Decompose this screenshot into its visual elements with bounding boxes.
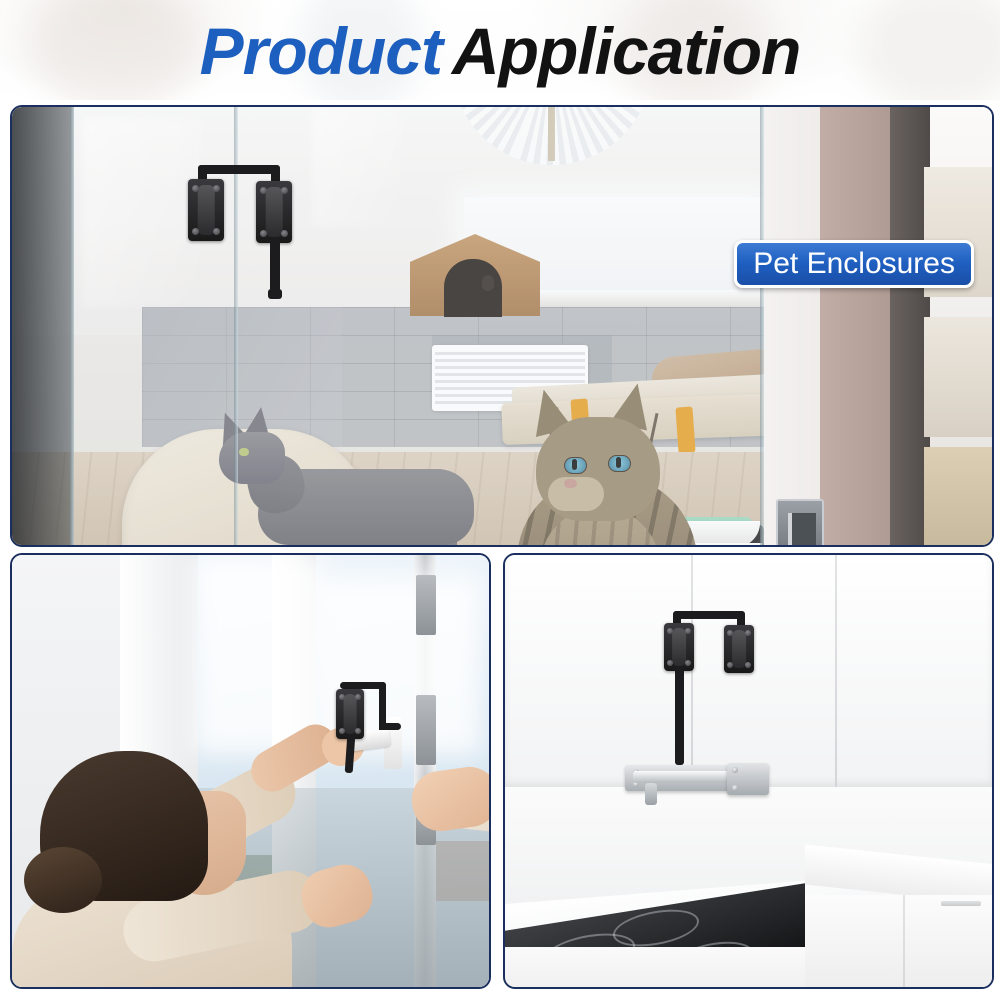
outdoor-building <box>436 841 491 901</box>
glass-door-edge <box>70 107 74 545</box>
lower-cabinets-left <box>505 947 805 989</box>
wall-panel <box>820 107 890 545</box>
lock-screw <box>745 662 751 668</box>
cabinet-door-seam <box>903 895 905 989</box>
lock-rod-tip <box>268 289 282 299</box>
page-title-word-product: Product <box>200 14 442 88</box>
lock-screw <box>727 662 733 668</box>
cabinet-handle[interactable] <box>941 901 981 906</box>
lock-screw <box>213 228 220 235</box>
barrel-bolt-bar <box>633 771 737 783</box>
page-title: ProductApplication <box>0 14 1000 88</box>
background-cabinet <box>924 447 992 547</box>
page-title-word-application: Application <box>452 14 800 88</box>
bolt-screw <box>732 767 738 773</box>
lock-sliding-rod <box>675 667 684 765</box>
lock-mounting-plate-right <box>724 625 754 673</box>
glass-reflection <box>82 117 202 307</box>
lock-screw <box>192 185 199 192</box>
lock-screw <box>355 728 361 734</box>
lock-screw <box>685 660 691 666</box>
lower-cabinets-right <box>805 895 992 989</box>
panel-pet-enclosures[interactable]: Pet Enclosures <box>10 105 994 547</box>
lock-screw <box>281 230 288 237</box>
pet-enclosure-photo <box>12 107 992 545</box>
lock-mounting-plate-left <box>664 623 694 671</box>
windows-photo <box>12 555 489 987</box>
background-cabinet <box>924 317 992 437</box>
barrel-bolt-keeper <box>727 763 769 795</box>
window-mechanism <box>416 695 436 765</box>
glass-door-hinge-icon <box>776 499 824 547</box>
lock-screw <box>355 694 361 700</box>
lock-screw <box>745 630 751 636</box>
lock-screw <box>260 230 267 237</box>
woman-hair-bun <box>24 847 102 913</box>
lock-screw <box>339 728 345 734</box>
barrel-bolt-knob[interactable] <box>645 783 657 805</box>
lock-mounting-plate-left <box>188 179 224 241</box>
lock-screw <box>685 628 691 634</box>
lock-screw <box>213 185 220 192</box>
bolt-screw <box>732 785 738 791</box>
lock-screw <box>260 187 267 194</box>
lock-screw <box>727 630 733 636</box>
window-glare <box>192 555 322 755</box>
glass-reflection <box>312 107 402 227</box>
glass-door-edge <box>760 107 764 545</box>
panel-windows[interactable]: Windows <box>10 553 491 989</box>
lock-mounting-plate-right <box>256 181 292 243</box>
lock-sliding-rod <box>270 237 280 295</box>
lock-screw <box>667 660 673 666</box>
page-header: ProductApplication <box>0 0 1000 100</box>
lock-screw <box>667 628 673 634</box>
lock-top-bar <box>673 611 745 619</box>
lock-screw <box>281 187 288 194</box>
cabinet-photo <box>505 555 992 987</box>
cabinet-door-seam <box>835 555 837 787</box>
lock-screw <box>339 694 345 700</box>
cabinet-door-seam <box>691 555 693 787</box>
glass-door-dark-edge <box>12 107 74 545</box>
lock-hook-tip <box>379 723 401 730</box>
badge-pet-enclosures[interactable]: Pet Enclosures <box>734 240 974 288</box>
lock-mounting-plate <box>336 689 364 739</box>
panel-cabinet[interactable]: Cabinet <box>503 553 994 989</box>
window-mechanism <box>416 575 436 635</box>
lock-top-bar <box>198 165 280 174</box>
lock-screw <box>192 228 199 235</box>
